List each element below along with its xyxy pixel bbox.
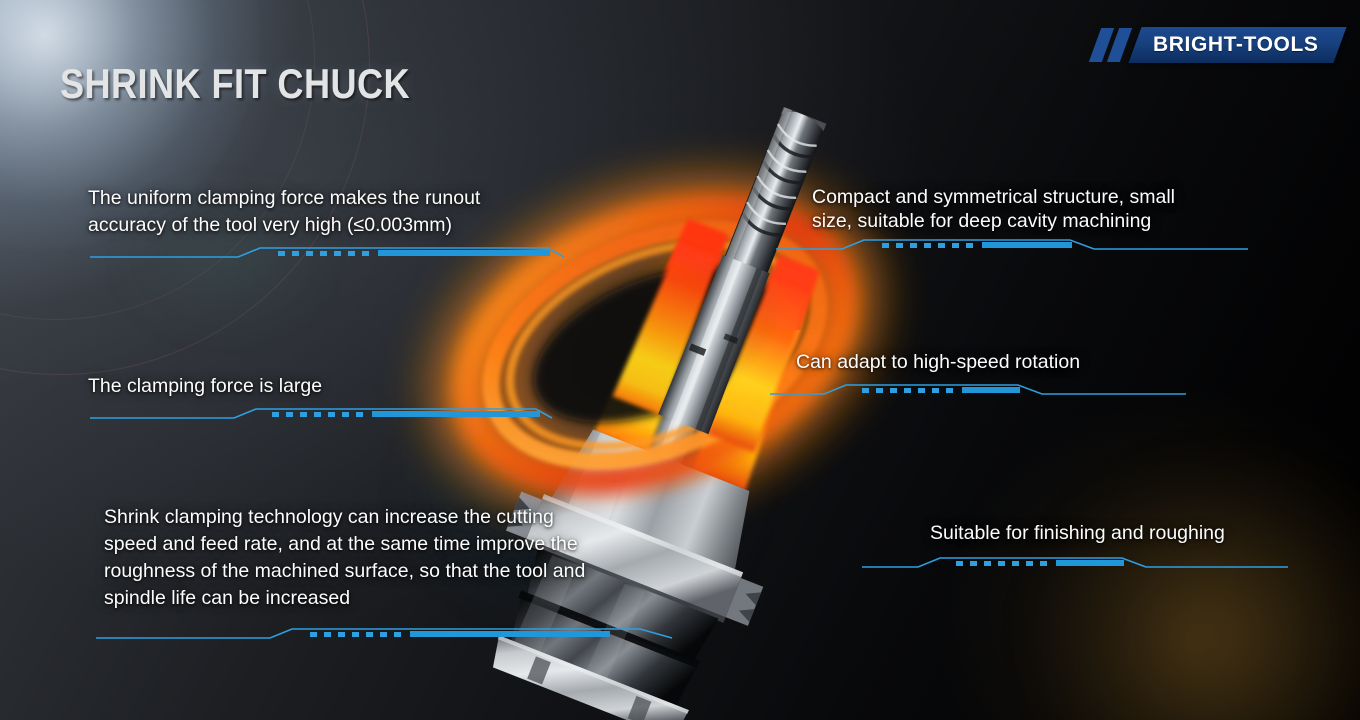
callout-text: The uniform clamping force makes the run…: [88, 185, 566, 239]
brand-logo[interactable]: BRIGHT-TOOLS: [1095, 26, 1340, 64]
callout-text: The clamping force is large: [88, 373, 554, 400]
callout-finishing-roughing: Suitable for finishing and roughing: [930, 520, 1290, 571]
callout-runout-accuracy: The uniform clamping force makes the run…: [88, 185, 566, 261]
slide-canvas: BRIGHT-TOOLS SHRINK FIT CHUCK The unifor…: [0, 0, 1360, 720]
callout-high-speed-rotation: Can adapt to high-speed rotation: [796, 349, 1196, 398]
page-title: SHRINK FIT CHUCK: [60, 60, 410, 108]
callout-rule: [860, 555, 1290, 571]
callout-rule: [88, 406, 554, 422]
logo-plate: BRIGHT-TOOLS: [1128, 27, 1347, 63]
callout-text: Suitable for finishing and roughing: [930, 520, 1290, 547]
corner-glow-bottomright: [1040, 470, 1360, 720]
callout-rule: [94, 626, 674, 642]
callout-text: Compact and symmetrical structure, small…: [812, 185, 1250, 233]
callout-shrink-technology: Shrink clamping technology can increase …: [104, 504, 684, 642]
callout-text: Can adapt to high-speed rotation: [796, 349, 1196, 376]
logo-text: BRIGHT-TOOLS: [1153, 33, 1318, 57]
callout-rule: [88, 245, 566, 261]
callout-text: Shrink clamping technology can increase …: [104, 504, 684, 612]
callout-compact-structure: Compact and symmetrical structure, small…: [812, 185, 1250, 253]
callout-rule: [774, 237, 1250, 253]
callout-rule: [768, 382, 1188, 398]
callout-clamping-force: The clamping force is large: [88, 373, 554, 422]
